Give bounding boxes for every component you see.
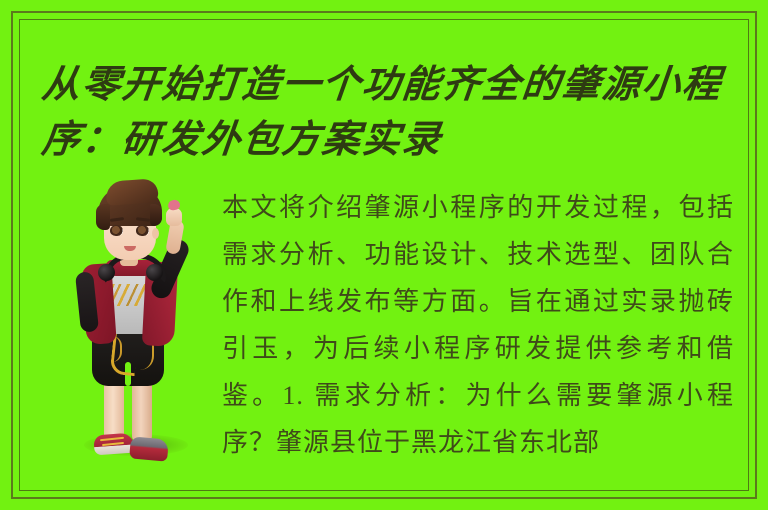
headphone-earcup-left <box>98 264 115 281</box>
character-eye-left <box>110 225 123 236</box>
character-shoe-right <box>129 436 169 461</box>
character-hair-side-right <box>150 204 162 226</box>
character-ear <box>152 228 159 239</box>
body-paragraph: 本文将介绍肇源小程序的开发过程，包括需求分析、功能设计、技术选型、团队合作和上线… <box>222 184 734 466</box>
headphone-earcup-right <box>146 264 163 281</box>
character-hair-quiff <box>105 178 159 206</box>
character-hair-side-left <box>96 204 110 230</box>
article-banner: 从零开始打造一个功能齐全的肇源小程 序：研发外包方案实录 <box>0 0 768 510</box>
character-eye-right <box>136 225 149 236</box>
title-line-1: 从零开始打造一个功能齐全的肇源小程 <box>39 58 735 113</box>
character-hand <box>166 208 182 226</box>
character-illustration <box>48 176 218 471</box>
page-title: 从零开始打造一个功能齐全的肇源小程 序：研发外包方案实录 <box>42 58 732 168</box>
title-line-2: 序：研发外包方案实录 <box>39 113 735 168</box>
